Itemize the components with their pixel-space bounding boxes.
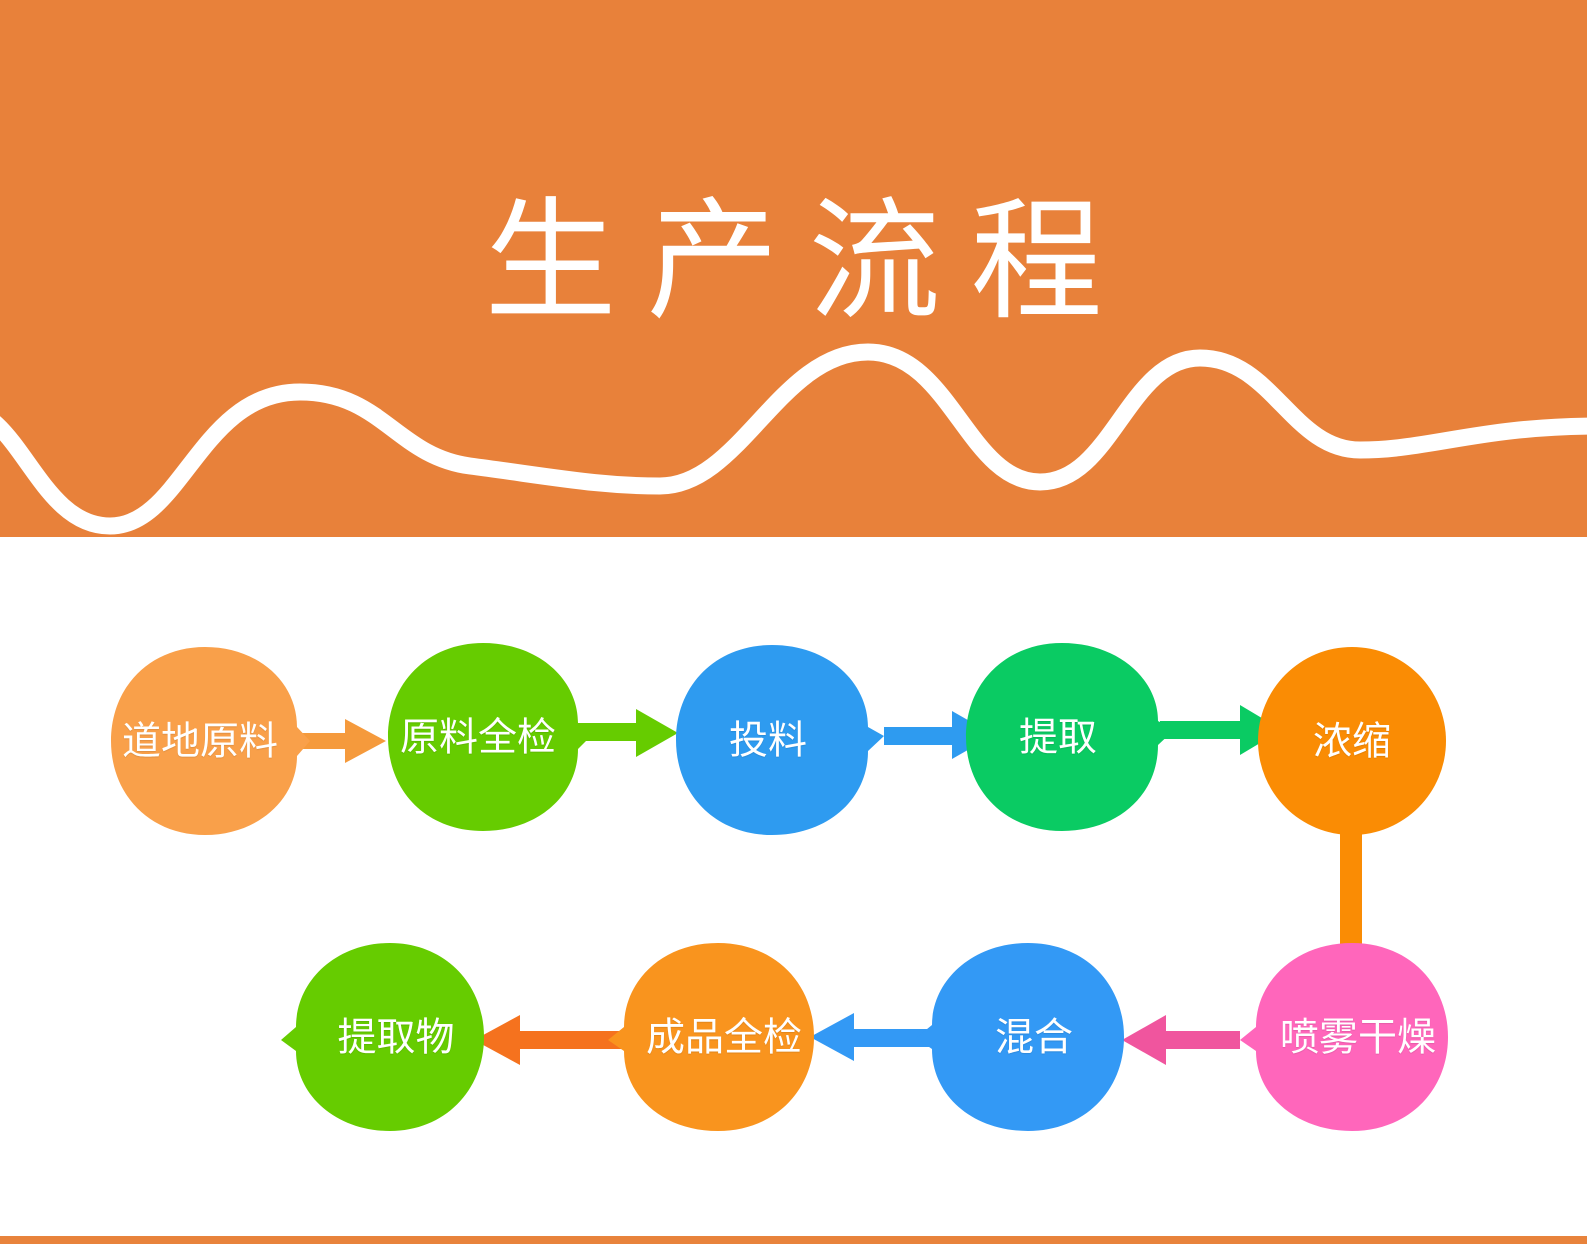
flow-node-label-material-inspection: 原料全检 xyxy=(400,719,556,758)
connector-arrow-mixing-to-final-inspection xyxy=(810,1013,930,1061)
connector-arrow-final-inspection-to-extract xyxy=(474,1015,625,1065)
flow-node-label-concentration: 浓缩 xyxy=(1313,723,1391,762)
flow-node-label-mixing: 混合 xyxy=(995,1019,1073,1058)
flow-node-label-extract-product: 提取物 xyxy=(337,1019,454,1058)
connector-group-row2 xyxy=(474,1013,1240,1065)
flow-node-label-spray-drying: 喷雾干燥 xyxy=(1280,1019,1436,1058)
flow-node-label-raw-material: 道地原料 xyxy=(122,723,278,762)
flow-diagram: 道地原料 原料全检 投料 提取 浓缩 提取物 成品全检 混合 喷雾干燥 xyxy=(0,537,1587,1236)
header-band: 生产流程 xyxy=(0,0,1587,537)
connector-arrow-spray-drying-to-mixing xyxy=(1122,1015,1240,1065)
flow-node-label-feeding: 投料 xyxy=(729,722,807,761)
footer-rule xyxy=(0,1236,1587,1244)
flow-diagram-canvas xyxy=(0,537,1587,1236)
flow-node-label-extraction: 提取 xyxy=(1019,719,1097,758)
page-title: 生产流程 xyxy=(0,196,1587,328)
flow-node-label-final-inspection: 成品全检 xyxy=(646,1019,802,1058)
slide-root: 生产流程 xyxy=(0,0,1587,1244)
